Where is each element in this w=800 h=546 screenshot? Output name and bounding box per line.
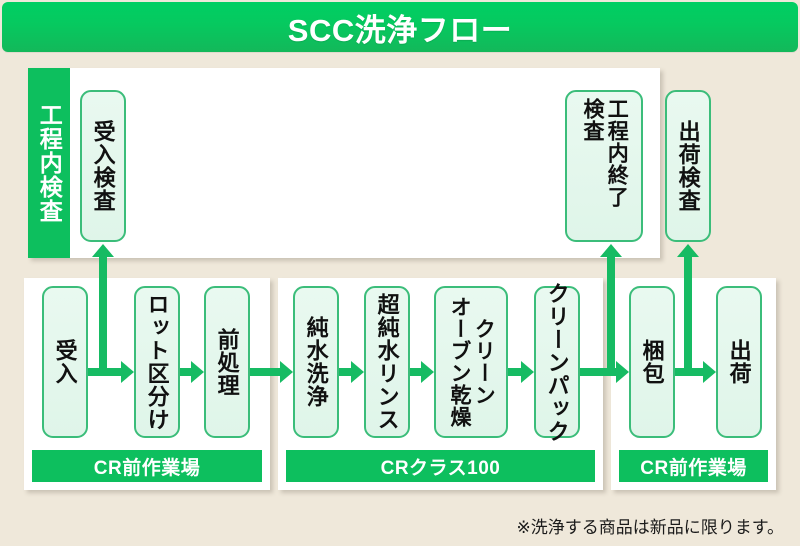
step-pre-treatment-box[interactable]: 前処理 bbox=[204, 286, 250, 438]
step-clean-oven-dry-box[interactable]: クリーン オーブン乾燥 bbox=[434, 286, 508, 438]
step-receiving-box[interactable]: 受入 bbox=[42, 286, 88, 438]
arrow-rinse-to-clean-oven-dry bbox=[410, 361, 434, 383]
stage-footer-label: CR前作業場 bbox=[94, 453, 200, 480]
inspection-sidebar-label: 工程内検査 bbox=[37, 103, 61, 223]
step-ultrapure-water-rinse-label: 超純水リンス bbox=[375, 293, 398, 431]
stage-footer-label: CR前作業場 bbox=[640, 453, 746, 480]
arrow-clean-oven-dry-to-clean-pack bbox=[508, 361, 534, 383]
receiving-inspection-box[interactable]: 受入検査 bbox=[80, 90, 126, 242]
footnote: ※洗浄する商品は新品に限ります。 bbox=[516, 513, 784, 538]
step-lot-sorting-box[interactable]: ロット区分け bbox=[134, 286, 180, 438]
step-clean-pack-box[interactable]: クリーンパック bbox=[534, 286, 580, 438]
receiving-inspection-label: 受入検査 bbox=[91, 120, 114, 212]
title-banner: SCC洗浄フロー bbox=[2, 2, 798, 52]
stage-footer-cr-class-100: CRクラス100 bbox=[286, 450, 595, 482]
stage-footer-label: CRクラス100 bbox=[381, 453, 501, 480]
step-clean-oven-dry-label-left: オーブン乾燥 bbox=[447, 288, 471, 436]
inspection-sidebar: 工程内検査 bbox=[28, 68, 70, 258]
arrow-pure-water-wash-to-rinse bbox=[339, 361, 364, 383]
stage-footer-pre-cr-2: CR前作業場 bbox=[619, 450, 768, 482]
step-pure-water-wash-label: 純水洗浄 bbox=[304, 316, 327, 408]
step-receiving-label: 受入 bbox=[53, 339, 76, 385]
shipping-inspection-label: 出荷検査 bbox=[676, 120, 699, 212]
arrow-to-shipping-inspection bbox=[677, 244, 699, 368]
step-pre-treatment-label: 前処理 bbox=[215, 328, 238, 397]
arrow-pre-treatment-to-pure-water-wash bbox=[250, 361, 293, 383]
step-lot-sorting-label: ロット区分け bbox=[145, 293, 168, 431]
step-clean-pack-label: クリーンパック bbox=[545, 282, 568, 443]
stage-footer-pre-cr-1: CR前作業場 bbox=[32, 450, 262, 482]
step-shipping-box[interactable]: 出荷 bbox=[716, 286, 762, 438]
process-end-inspection-label-left: 検査 bbox=[580, 92, 604, 240]
arrow-to-process-end-inspection bbox=[600, 244, 622, 368]
step-ultrapure-water-rinse-box[interactable]: 超純水リンス bbox=[364, 286, 410, 438]
step-packing-box[interactable]: 梱包 bbox=[629, 286, 675, 438]
page-title: SCC洗浄フロー bbox=[288, 5, 512, 50]
step-shipping-label: 出荷 bbox=[727, 339, 750, 385]
shipping-inspection-box[interactable]: 出荷検査 bbox=[665, 90, 711, 242]
flow-diagram-root: SCC洗浄フロー 工程内検査 受入検査 工程内終了 検査 出荷検査 CR前作業場… bbox=[0, 0, 800, 546]
arrow-lot-sorting-to-pre-treatment bbox=[180, 361, 204, 383]
process-end-inspection-label-right: 工程内終了 bbox=[604, 92, 628, 240]
process-end-inspection-box[interactable]: 工程内終了 検査 bbox=[565, 90, 643, 242]
step-pure-water-wash-box[interactable]: 純水洗浄 bbox=[293, 286, 339, 438]
arrow-to-receiving-inspection bbox=[92, 244, 114, 368]
step-clean-oven-dry-label-right: クリーン bbox=[471, 288, 495, 436]
step-packing-label: 梱包 bbox=[640, 339, 663, 385]
